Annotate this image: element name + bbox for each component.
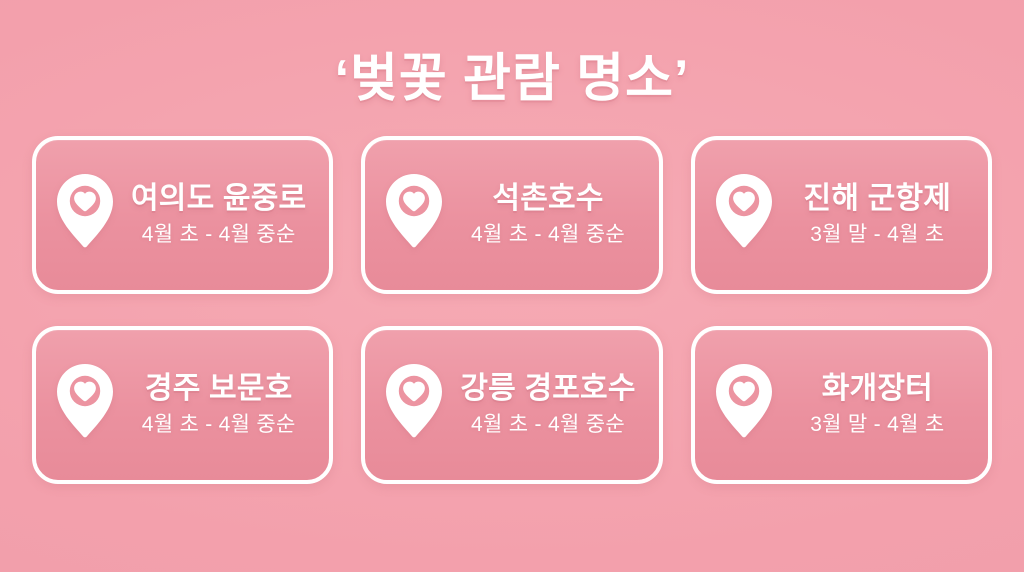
map-pin-heart-icon — [383, 172, 445, 258]
place-card[interactable]: 여의도 윤중로 4월 초 - 4월 중순 — [32, 136, 333, 294]
place-card[interactable]: 진해 군항제 3월 말 - 4월 초 — [691, 136, 992, 294]
place-name: 화개장터 — [822, 372, 933, 406]
map-pin-heart-icon — [54, 172, 116, 258]
place-period: 4월 초 - 4월 중순 — [471, 413, 625, 436]
cherry-blossom-poster: ‘벚꽃 관람 명소’ 여의도 윤중로 4월 초 - 4월 중순 — [0, 0, 1024, 572]
place-name: 석촌호수 — [492, 182, 603, 216]
place-card[interactable]: 경주 보문호 4월 초 - 4월 중순 — [32, 326, 333, 484]
place-period: 4월 초 - 4월 중순 — [471, 223, 625, 246]
map-pin-heart-icon — [383, 362, 445, 448]
place-name: 강릉 경포호수 — [460, 372, 635, 406]
place-card-text: 경주 보문호 4월 초 - 4월 중순 — [122, 372, 315, 438]
place-name: 진해 군항제 — [804, 182, 952, 216]
place-period: 3월 말 - 4월 초 — [810, 413, 944, 436]
place-period: 4월 초 - 4월 중순 — [142, 223, 296, 246]
place-card-text: 강릉 경포호수 4월 초 - 4월 중순 — [451, 372, 644, 438]
place-period: 4월 초 - 4월 중순 — [142, 413, 296, 436]
place-card[interactable]: 석촌호수 4월 초 - 4월 중순 — [361, 136, 662, 294]
title-container: ‘벚꽃 관람 명소’ — [335, 40, 690, 118]
place-name: 경주 보문호 — [145, 372, 293, 406]
place-card[interactable]: 강릉 경포호수 4월 초 - 4월 중순 — [361, 326, 662, 484]
map-pin-heart-icon — [713, 362, 775, 448]
place-card[interactable]: 화개장터 3월 말 - 4월 초 — [691, 326, 992, 484]
map-pin-heart-icon — [54, 362, 116, 448]
place-card-text: 여의도 윤중로 4월 초 - 4월 중순 — [122, 182, 315, 248]
place-card-text: 진해 군항제 3월 말 - 4월 초 — [781, 182, 974, 248]
place-period: 3월 말 - 4월 초 — [810, 223, 944, 246]
place-card-text: 석촌호수 4월 초 - 4월 중순 — [451, 182, 644, 248]
page-title: ‘벚꽃 관람 명소’ — [335, 53, 690, 105]
map-pin-heart-icon — [713, 172, 775, 258]
place-name: 여의도 윤중로 — [131, 182, 306, 216]
place-card-text: 화개장터 3월 말 - 4월 초 — [781, 372, 974, 438]
place-card-grid: 여의도 윤중로 4월 초 - 4월 중순 석촌호수 4월 초 - 4월 중순 — [32, 136, 992, 484]
